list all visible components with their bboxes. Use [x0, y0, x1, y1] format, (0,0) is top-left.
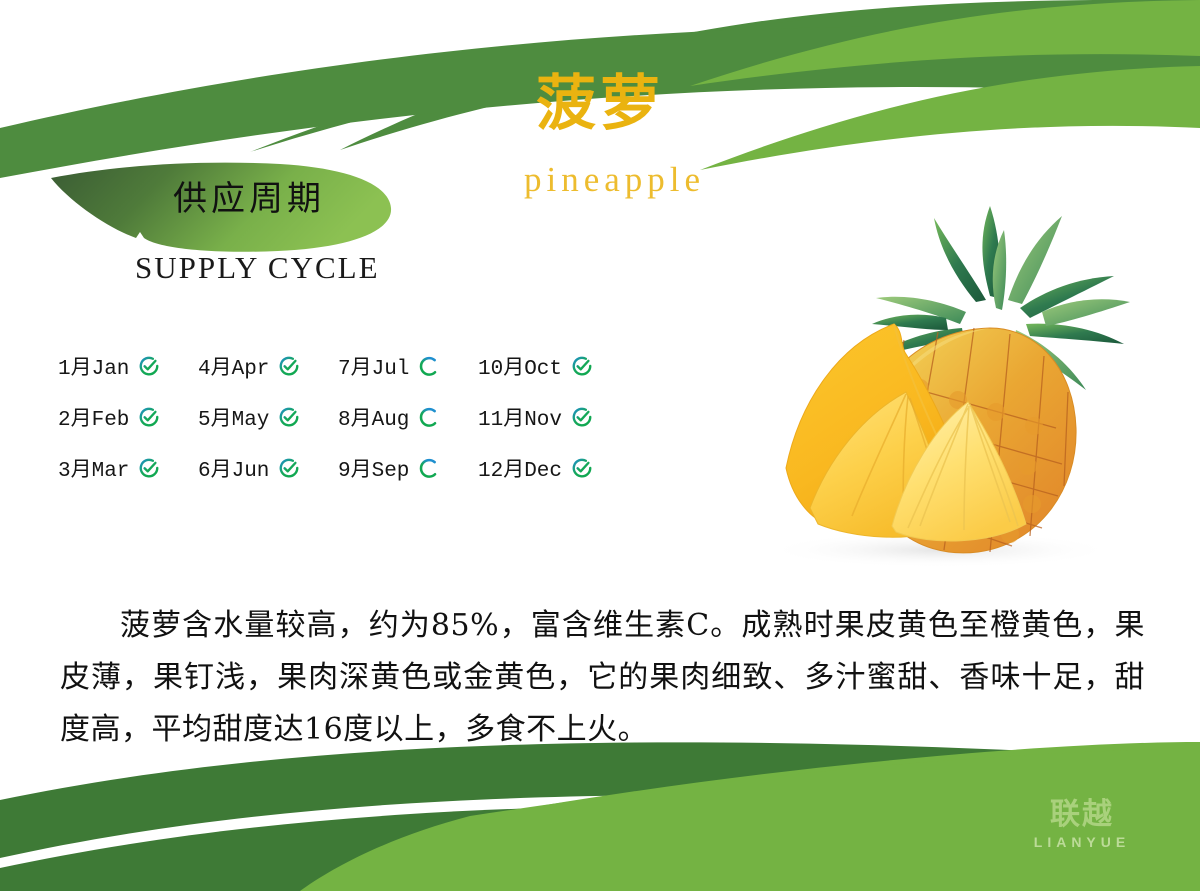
month-label: 2月Feb: [58, 402, 129, 432]
brand-name-cn: 联越: [1012, 800, 1152, 830]
month-label: 5月May: [198, 402, 269, 432]
top-right-green-slab: [690, 0, 1200, 86]
check-circle-icon: [278, 355, 300, 377]
poster-canvas: 供应周期 SUPPLY CYCLE 菠萝 pineapple 1月Jan 4月A…: [0, 0, 1200, 891]
month-label: 3月Mar: [58, 453, 129, 483]
month-item-sep[interactable]: 9月Sep: [338, 453, 478, 483]
month-label: 10月Oct: [478, 351, 562, 381]
month-label: 6月Jun: [198, 453, 269, 483]
supply-cycle-badge: 供应周期: [48, 162, 393, 254]
month-label: 7月Jul: [338, 351, 409, 381]
check-circle-icon: [571, 406, 593, 428]
month-item-oct[interactable]: 10月Oct: [478, 351, 618, 381]
month-label: 4月Apr: [198, 351, 269, 381]
partial-arc-icon: [418, 457, 440, 479]
month-item-jul[interactable]: 7月Jul: [338, 351, 478, 381]
month-label: 12月Dec: [478, 453, 562, 483]
supply-cycle-title-cn: 供应周期: [173, 171, 325, 220]
month-label: 1月Jan: [58, 351, 129, 381]
page-title-cn: 菠萝: [536, 74, 664, 134]
top-left-green-curve-thin: [250, 0, 1200, 152]
page-title-en: pineapple: [524, 160, 705, 200]
supply-cycle-title-en: SUPPLY CYCLE: [135, 250, 380, 286]
top-right-green-slab-2: [700, 66, 1200, 170]
check-circle-icon: [278, 457, 300, 479]
month-label: 9月Sep: [338, 453, 409, 483]
months-row: 3月Mar 6月Jun 9月Sep 12月Dec: [58, 442, 618, 493]
check-circle-icon: [138, 355, 160, 377]
brand-name-en: LIANYUE: [1012, 834, 1152, 850]
partial-arc-icon: [418, 406, 440, 428]
partial-arc-icon: [418, 355, 440, 377]
check-circle-icon: [571, 457, 593, 479]
month-item-jun[interactable]: 6月Jun: [198, 453, 338, 483]
month-item-nov[interactable]: 11月Nov: [478, 402, 618, 432]
brand-watermark: 联越 LIANYUE: [1012, 800, 1152, 850]
pineapple-photo: [690, 178, 1190, 578]
check-circle-icon: [138, 457, 160, 479]
months-row: 2月Feb 5月May 8月Aug 11月Nov: [58, 391, 618, 442]
month-item-dec[interactable]: 12月Dec: [478, 453, 618, 483]
description-paragraph: 菠萝含水量较高，约为85%，富含维生素C。成熟时果皮黄色至橙黄色，果皮薄，果钉浅…: [60, 600, 1145, 756]
check-circle-icon: [138, 406, 160, 428]
month-item-apr[interactable]: 4月Apr: [198, 351, 338, 381]
month-item-mar[interactable]: 3月Mar: [58, 453, 198, 483]
month-item-may[interactable]: 5月May: [198, 402, 338, 432]
month-item-feb[interactable]: 2月Feb: [58, 402, 198, 432]
supply-months-grid: 1月Jan 4月Apr 7月Jul: [58, 340, 618, 493]
check-circle-icon: [571, 355, 593, 377]
month-label: 11月Nov: [478, 402, 562, 432]
months-row: 1月Jan 4月Apr 7月Jul: [58, 340, 618, 391]
month-item-aug[interactable]: 8月Aug: [338, 402, 478, 432]
top-right-green-band-upper: [340, 0, 1200, 150]
check-circle-icon: [278, 406, 300, 428]
month-label: 8月Aug: [338, 402, 409, 432]
month-item-jan[interactable]: 1月Jan: [58, 351, 198, 381]
